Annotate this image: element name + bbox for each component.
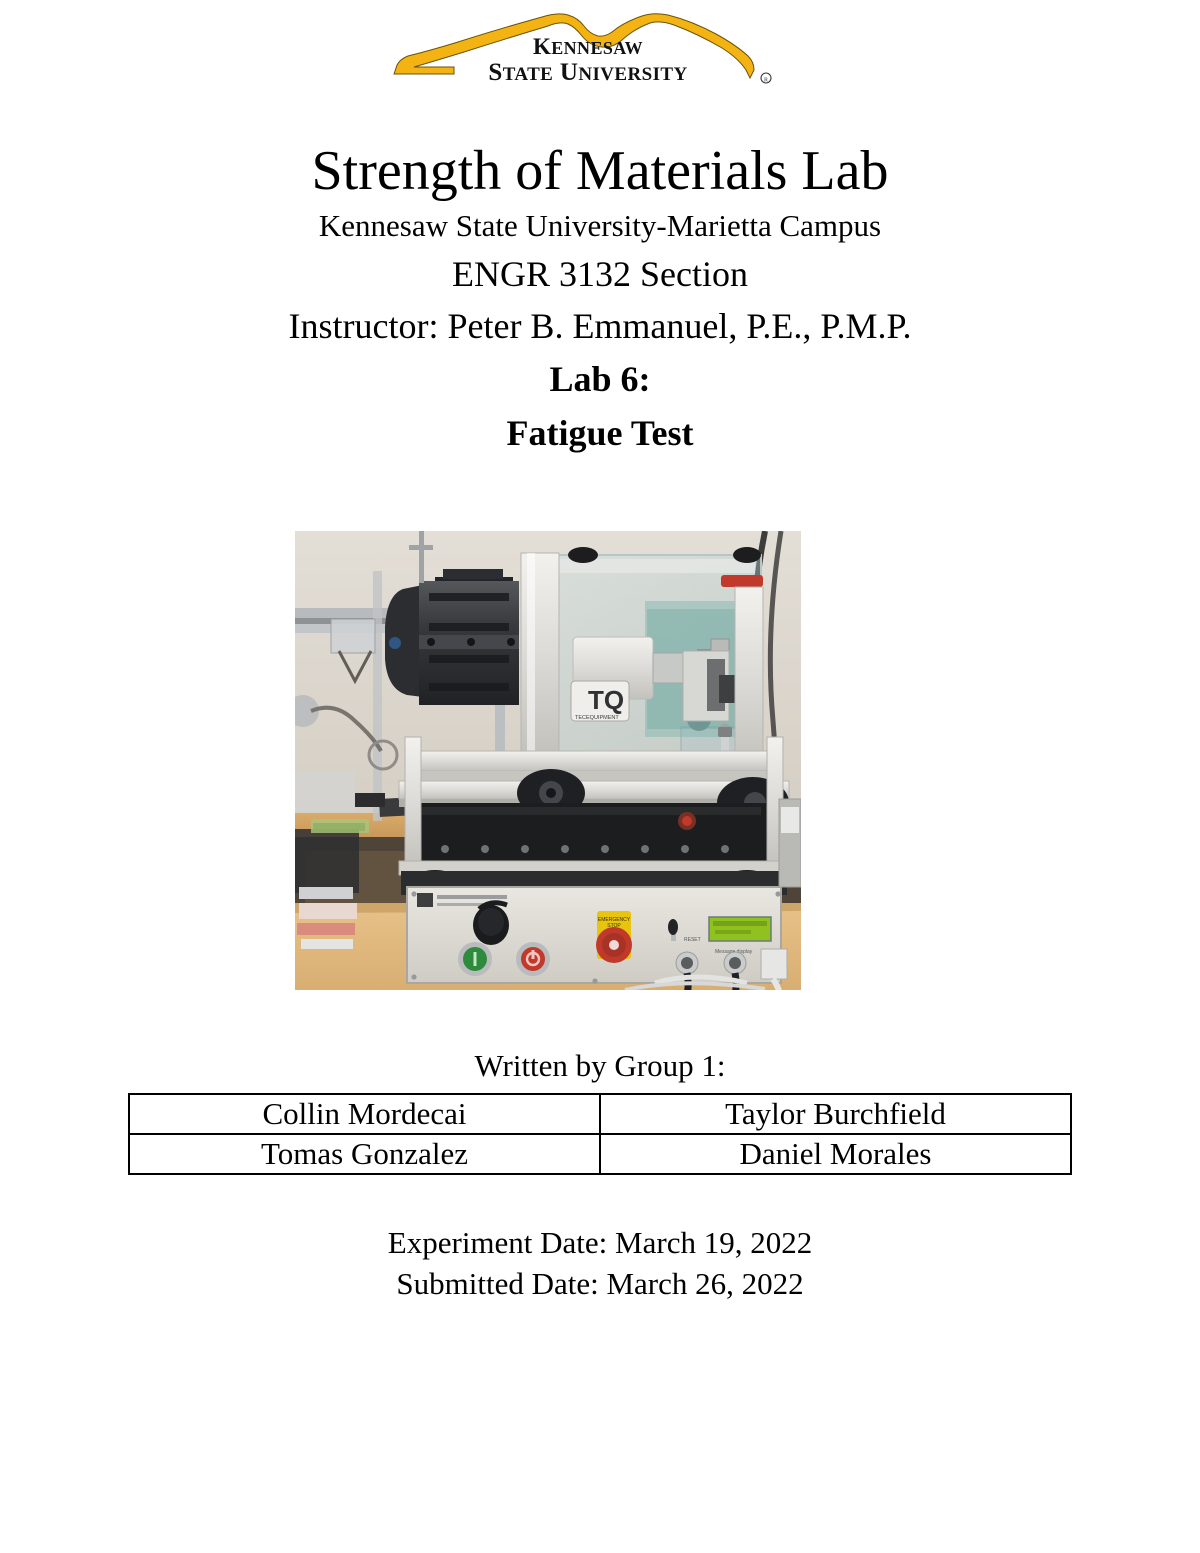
svg-text:R: R (764, 78, 768, 84)
dates-block: Experiment Date: March 19, 2022 Submitte… (0, 1222, 1200, 1304)
page-title: Strength of Materials Lab (0, 138, 1200, 204)
svg-text:KENNESAW: KENNESAW (533, 34, 643, 59)
submitted-date: Submitted Date: March 26, 2022 (0, 1263, 1200, 1304)
svg-text:TECEQUIPMENT: TECEQUIPMENT (575, 715, 619, 721)
lab-name: Fatigue Test (0, 406, 1200, 460)
svg-text:TQ: TQ (588, 685, 624, 715)
svg-text:RESET: RESET (684, 937, 701, 943)
lab-number: Lab 6: (0, 352, 1200, 406)
authors-table: Collin Mordecai Taylor Burchfield Tomas … (128, 1093, 1072, 1175)
university-logo: R KENNESAW STATE UNIVERSITY (392, 12, 782, 94)
table-row: Tomas Gonzalez Daniel Morales (129, 1134, 1071, 1174)
authors-heading: Written by Group 1: (0, 1046, 1200, 1086)
campus-line: Kennesaw State University-Marietta Campu… (0, 204, 1200, 248)
table-row: Collin Mordecai Taylor Burchfield (129, 1094, 1071, 1134)
title-block: Strength of Materials Lab Kennesaw State… (0, 138, 1200, 460)
instructor-line: Instructor: Peter B. Emmanuel, P.E., P.M… (0, 300, 1200, 352)
course-line: ENGR 3132 Section (0, 248, 1200, 300)
experiment-date: Experiment Date: March 19, 2022 (0, 1222, 1200, 1263)
svg-text:STATE UNIVERSITY: STATE UNIVERSITY (488, 59, 687, 86)
author-name: Collin Mordecai (129, 1094, 600, 1134)
cover-page: R KENNESAW STATE UNIVERSITY Strength of … (0, 0, 1200, 1553)
fatigue-test-machine-photo: TQ TECEQUIPMENT (295, 531, 801, 990)
author-name: Tomas Gonzalez (129, 1134, 600, 1174)
author-name: Taylor Burchfield (600, 1094, 1071, 1134)
author-name: Daniel Morales (600, 1134, 1071, 1174)
